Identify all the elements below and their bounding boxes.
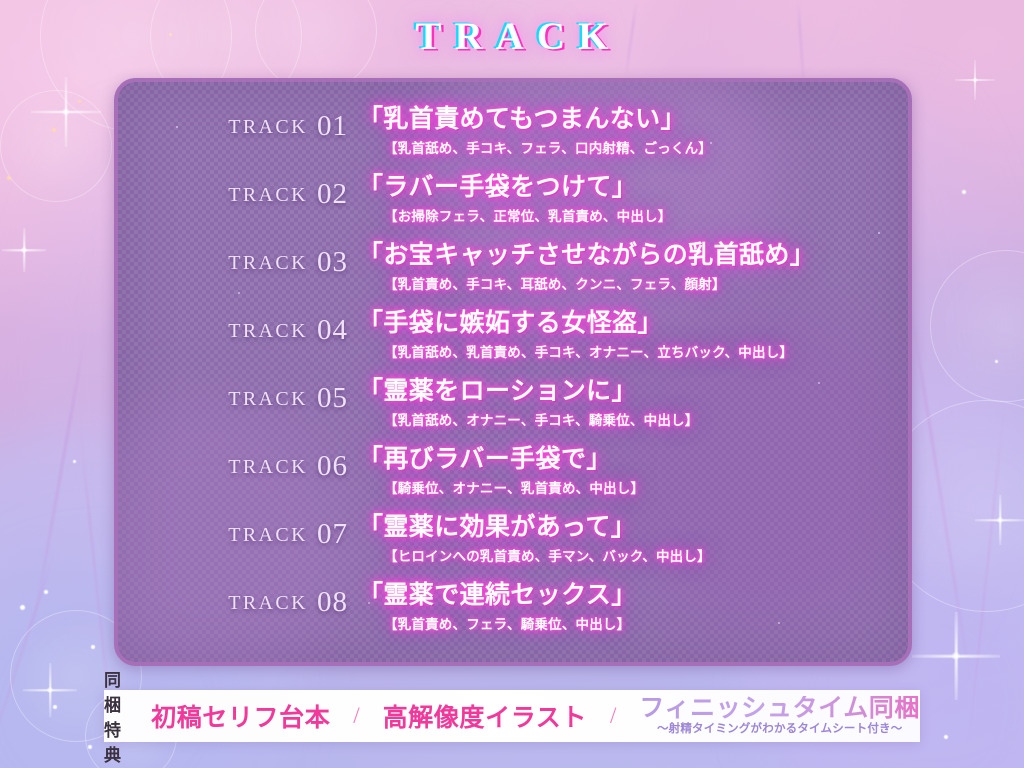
track-number: 06 bbox=[317, 450, 348, 482]
track-texts: 「お宝キャッチさせながらの乳首舐め」 【乳首責め、手コキ、耳舐め、クンニ、フェラ… bbox=[358, 242, 898, 293]
track-label: TRACK07 bbox=[118, 518, 348, 551]
track-title: 「手袋に嫉妬する女怪盗」 bbox=[358, 310, 898, 338]
page-title-container: TRACK bbox=[0, 14, 1024, 59]
bonus-item-3-subtitle: ～射精タイミングがわかるタイムシート付き～ bbox=[657, 724, 902, 736]
page-title: TRACK bbox=[403, 14, 622, 59]
track-label: TRACK03 bbox=[118, 246, 348, 279]
track-title: 「霊薬に効果があって」 bbox=[358, 514, 898, 542]
sparkle-dot bbox=[995, 360, 998, 363]
track-label: TRACK04 bbox=[118, 314, 348, 347]
track-label-word: TRACK bbox=[228, 388, 308, 410]
track-number: 07 bbox=[317, 518, 348, 550]
track-label: TRACK02 bbox=[118, 178, 348, 211]
bokeh-circle bbox=[0, 90, 112, 202]
track-row[interactable]: TRACK05 「霊薬をローションに」 【乳首舐め、オナニー、手コキ、騎乗位、中… bbox=[118, 378, 908, 446]
track-texts: 「霊薬で連続セックス」 【乳首責め、フェラ、騎乗位、中出し】 bbox=[358, 582, 898, 633]
bonus-item-1: 初稿セリフ台本 bbox=[151, 698, 330, 734]
sparkle-dot bbox=[44, 590, 48, 594]
bonus-label: 同梱特典 bbox=[104, 666, 133, 766]
track-title: 「再びラバー手袋で」 bbox=[358, 446, 898, 474]
track-title: 「霊薬をローションに」 bbox=[358, 378, 898, 406]
track-label-word: TRACK bbox=[228, 592, 308, 614]
track-listing-page: TRACK TRACK01 「乳首責めてもつまんない」 【乳首舐め、手コキ、フェ… bbox=[0, 0, 1024, 768]
track-number: 03 bbox=[317, 246, 348, 278]
track-tags: 【乳首舐め、オナニー、手コキ、騎乗位、中出し】 bbox=[358, 409, 898, 429]
bonus-separator: / bbox=[353, 703, 359, 729]
track-title: 「霊薬で連続セックス」 bbox=[358, 582, 898, 610]
track-title: 「ラバー手袋をつけて」 bbox=[358, 174, 898, 202]
track-number: 02 bbox=[317, 178, 348, 210]
track-label: TRACK08 bbox=[118, 586, 348, 619]
sparkle-dot bbox=[20, 605, 25, 610]
track-tags: 【騎乗位、オナニー、乳首責め、中出し】 bbox=[358, 477, 898, 497]
track-label-word: TRACK bbox=[228, 524, 308, 546]
track-row[interactable]: TRACK01 「乳首責めてもつまんない」 【乳首舐め、手コキ、フェラ、口内射精… bbox=[118, 106, 908, 174]
bonus-item-2: 高解像度イラスト bbox=[383, 698, 587, 734]
track-texts: 「乳首責めてもつまんない」 【乳首舐め、手コキ、フェラ、口内射精、ごっくん】 bbox=[358, 106, 898, 157]
track-tags: 【乳首責め、手コキ、耳舐め、クンニ、フェラ、顔射】 bbox=[358, 273, 898, 293]
sparkle-dot bbox=[73, 460, 76, 463]
track-label: TRACK05 bbox=[118, 382, 348, 415]
track-row[interactable]: TRACK02 「ラバー手袋をつけて」 【お掃除フェラ、正常位、乳首責め、中出し… bbox=[118, 174, 908, 242]
track-label-word: TRACK bbox=[228, 456, 308, 478]
track-title: 「乳首責めてもつまんない」 bbox=[358, 106, 898, 134]
sparkle-dot bbox=[78, 100, 81, 103]
track-tags: 【乳首舐め、乳首責め、手コキ、オナニー、立ちバック、中出し】 bbox=[358, 341, 898, 361]
track-list-panel: TRACK01 「乳首責めてもつまんない」 【乳首舐め、手コキ、フェラ、口内射精… bbox=[114, 78, 912, 666]
track-texts: 「再びラバー手袋で」 【騎乗位、オナニー、乳首責め、中出し】 bbox=[358, 446, 898, 497]
sparkle-dot bbox=[91, 645, 95, 649]
track-texts: 「手袋に嫉妬する女怪盗」 【乳首舐め、乳首責め、手コキ、オナニー、立ちバック、中… bbox=[358, 310, 898, 361]
track-texts: 「霊薬をローションに」 【乳首舐め、オナニー、手コキ、騎乗位、中出し】 bbox=[358, 378, 898, 429]
sparkle-dot bbox=[52, 128, 56, 132]
track-label: TRACK06 bbox=[118, 450, 348, 483]
track-row[interactable]: TRACK07 「霊薬に効果があって」 【ヒロインへの乳首責め、手マン、バック、… bbox=[118, 514, 908, 582]
track-tags: 【乳首責め、フェラ、騎乗位、中出し】 bbox=[358, 613, 898, 633]
track-number: 01 bbox=[317, 110, 348, 142]
track-tags: 【ヒロインへの乳首責め、手マン、バック、中出し】 bbox=[358, 545, 898, 565]
track-texts: 「霊薬に効果があって」 【ヒロインへの乳首責め、手マン、バック、中出し】 bbox=[358, 514, 898, 565]
track-row[interactable]: TRACK04 「手袋に嫉妬する女怪盗」 【乳首舐め、乳首責め、手コキ、オナニー… bbox=[118, 310, 908, 378]
track-label-word: TRACK bbox=[228, 184, 308, 206]
track-list: TRACK01 「乳首責めてもつまんない」 【乳首舐め、手コキ、フェラ、口内射精… bbox=[118, 82, 908, 650]
bonus-item-3: フィニッシュタイム同梱 bbox=[639, 696, 920, 721]
bonus-banner: 同梱特典 初稿セリフ台本 / 高解像度イラスト / フィニッシュタイム同梱 ～射… bbox=[104, 690, 920, 742]
track-number: 05 bbox=[317, 382, 348, 414]
track-title: 「お宝キャッチさせながらの乳首舐め」 bbox=[358, 242, 898, 270]
track-texts: 「ラバー手袋をつけて」 【お掃除フェラ、正常位、乳首責め、中出し】 bbox=[358, 174, 898, 225]
track-row[interactable]: TRACK06 「再びラバー手袋で」 【騎乗位、オナニー、乳首責め、中出し】 bbox=[118, 446, 908, 514]
track-label-word: TRACK bbox=[228, 320, 308, 342]
track-tags: 【乳首舐め、手コキ、フェラ、口内射精、ごっくん】 bbox=[358, 137, 898, 157]
sparkle-dot bbox=[53, 705, 57, 709]
track-label: TRACK01 bbox=[118, 110, 348, 143]
track-label-word: TRACK bbox=[228, 116, 308, 138]
track-label-word: TRACK bbox=[228, 252, 308, 274]
track-number: 04 bbox=[317, 314, 348, 346]
sparkle-dot bbox=[944, 735, 948, 739]
sparkle-dot bbox=[7, 176, 11, 180]
track-number: 08 bbox=[317, 586, 348, 618]
track-tags: 【お掃除フェラ、正常位、乳首責め、中出し】 bbox=[358, 205, 898, 225]
bonus-item-3-group: フィニッシュタイム同梱 ～射精タイミングがわかるタイムシート付き～ bbox=[639, 696, 920, 736]
sparkle-dot bbox=[962, 190, 966, 194]
bonus-separator: / bbox=[610, 703, 616, 729]
sparkle-dot bbox=[88, 745, 92, 749]
track-row[interactable]: TRACK08 「霊薬で連続セックス」 【乳首責め、フェラ、騎乗位、中出し】 bbox=[118, 582, 908, 650]
track-row[interactable]: TRACK03 「お宝キャッチさせながらの乳首舐め」 【乳首責め、手コキ、耳舐め… bbox=[118, 242, 908, 310]
